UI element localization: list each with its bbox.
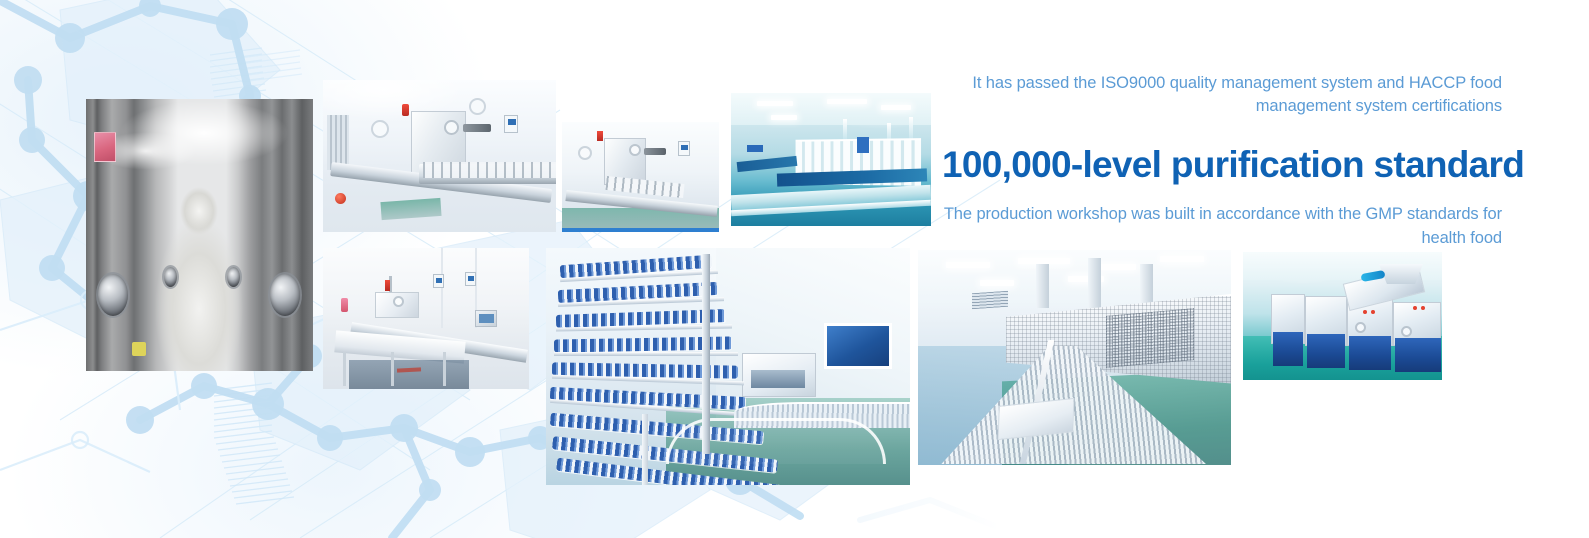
ceiling-lamp-icon bbox=[757, 101, 793, 106]
gauge-icon bbox=[629, 144, 641, 156]
page-title: 100,000-level purification standard bbox=[942, 144, 1502, 185]
machine-base bbox=[1395, 338, 1441, 372]
control-panel bbox=[857, 137, 869, 153]
photo-filling-machine bbox=[562, 122, 719, 232]
wall-sign bbox=[94, 132, 116, 162]
signal-lamp-icon bbox=[597, 131, 603, 141]
signal-lamp-icon bbox=[385, 280, 390, 291]
spiral-rail bbox=[554, 352, 738, 356]
floor-marker bbox=[132, 342, 146, 356]
exhaust-duct bbox=[1140, 264, 1153, 306]
exhaust-duct bbox=[1036, 264, 1049, 308]
photo-spiral-conveyor bbox=[546, 248, 910, 485]
guard-rail bbox=[666, 418, 886, 464]
wall-panel bbox=[824, 323, 892, 369]
machine-arm bbox=[463, 124, 491, 132]
ceiling-lamp-icon bbox=[980, 280, 1014, 286]
air-shower-vent-icon bbox=[98, 274, 128, 316]
spiral-mast bbox=[642, 414, 648, 485]
photo-labeling-machine bbox=[323, 248, 529, 389]
ceiling-lamp-icon bbox=[771, 115, 797, 120]
certification-eyebrow: It has passed the ISO9000 quality manage… bbox=[942, 72, 1502, 119]
gauge-icon bbox=[393, 296, 404, 307]
gauge-icon bbox=[444, 120, 459, 135]
hmi-touch-panel bbox=[475, 310, 497, 327]
exhaust-duct bbox=[1088, 258, 1101, 308]
machine-base bbox=[1307, 334, 1345, 368]
photo-packaging-machine-line bbox=[323, 80, 556, 232]
photo-cleanroom-air-shower bbox=[86, 99, 313, 371]
machine-body bbox=[742, 353, 816, 397]
gmp-subline: The production workshop was built in acc… bbox=[942, 203, 1502, 250]
photo-tunnel-oven bbox=[918, 250, 1231, 465]
control-panel bbox=[678, 141, 690, 156]
ceiling-lamp-icon bbox=[881, 105, 911, 110]
spiral-mast bbox=[702, 254, 710, 454]
air-shower-vent-icon bbox=[270, 274, 300, 316]
film-reel-icon bbox=[371, 120, 389, 138]
film-reel-icon bbox=[578, 146, 592, 160]
film-reel-icon bbox=[469, 98, 486, 115]
emergency-stop-icon bbox=[335, 193, 346, 204]
banner-text-block: It has passed the ISO9000 quality manage… bbox=[942, 72, 1502, 250]
air-shower-vent-icon bbox=[227, 267, 240, 287]
photo-cleanroom-tunnel bbox=[731, 93, 931, 226]
control-panel bbox=[504, 115, 518, 133]
indicator-led-icon bbox=[1421, 306, 1425, 310]
indicator-led-icon bbox=[1371, 310, 1375, 314]
air-shower-vent-icon bbox=[164, 267, 177, 287]
machine-base bbox=[1349, 336, 1391, 370]
wall-sign bbox=[972, 291, 1008, 310]
gauge-icon bbox=[1401, 326, 1412, 337]
gauge-icon bbox=[1355, 322, 1366, 333]
ceiling-lamp-icon bbox=[946, 262, 990, 268]
control-panel bbox=[747, 145, 763, 152]
bottle-icon bbox=[341, 298, 348, 312]
control-panel bbox=[433, 274, 444, 288]
conveyor-fins bbox=[423, 162, 556, 178]
photo-processing-machine-row bbox=[1243, 252, 1442, 380]
oven-vent-grid bbox=[1106, 308, 1194, 368]
machine-base bbox=[1273, 332, 1303, 366]
ceiling-lamp-icon bbox=[827, 99, 867, 104]
machine-arm bbox=[644, 148, 666, 155]
control-panel bbox=[465, 272, 476, 286]
purification-standard-banner: It has passed the ISO9000 quality manage… bbox=[0, 0, 1589, 538]
photo-bottom-accent bbox=[562, 228, 719, 232]
ceiling-lamp-icon bbox=[1160, 256, 1204, 262]
indicator-led-icon bbox=[1413, 306, 1417, 310]
signal-lamp-icon bbox=[402, 104, 409, 116]
photo-cleanroom-air-shower-image bbox=[86, 99, 313, 371]
ceiling-lamp-icon bbox=[1096, 264, 1136, 270]
machine-column bbox=[327, 115, 349, 170]
indicator-led-icon bbox=[1363, 310, 1367, 314]
wall-seam bbox=[441, 248, 443, 328]
